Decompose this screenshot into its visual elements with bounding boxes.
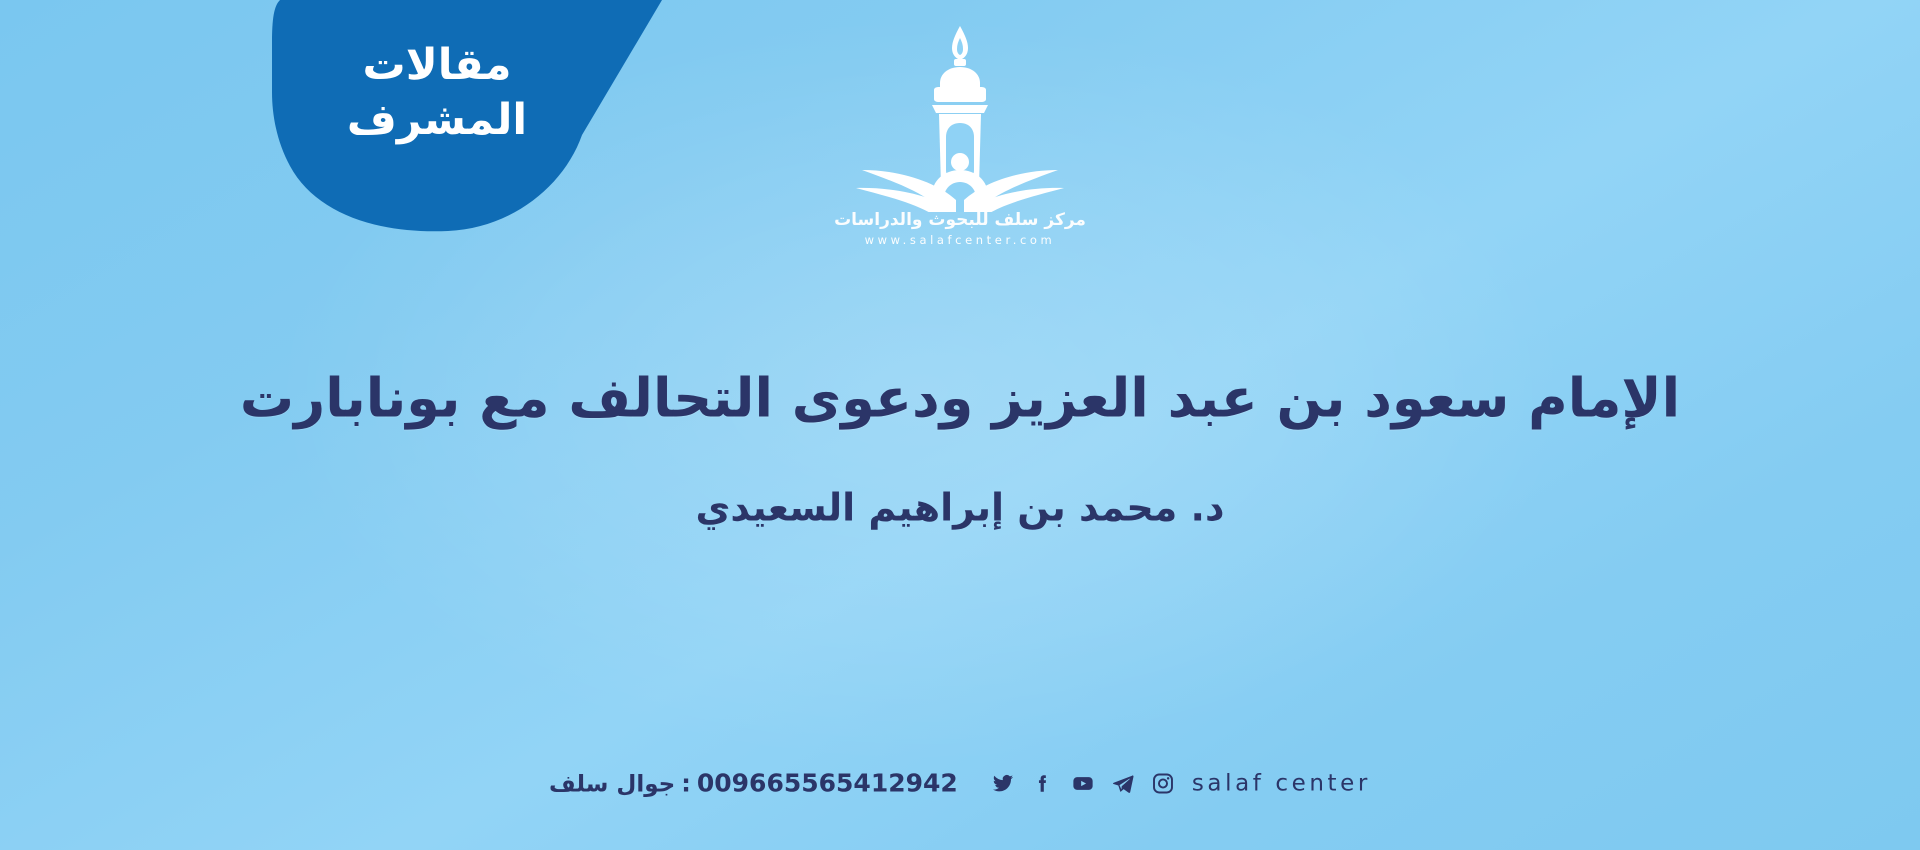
minaret-pen-book-icon — [840, 22, 1080, 212]
article-author: د. محمد بن إبراهيم السعيدي — [0, 483, 1920, 532]
phone-label: جوال سلف — [549, 772, 675, 798]
youtube-icon[interactable] — [1072, 772, 1094, 794]
brand-logo: مركز سلف للبحوث والدراسات www.salafcente… — [810, 22, 1110, 247]
article-cover-poster: مقالات المشرف — [0, 0, 1920, 850]
category-badge: مقالات المشرف — [272, 0, 672, 232]
phone-number: 009665565412942 — [697, 769, 958, 798]
logo-url: www.salafcenter.com — [810, 233, 1110, 247]
article-title: الإمام سعود بن عبد العزيز ودعوى التحالف … — [0, 364, 1920, 432]
social-handle: salaf center — [1192, 770, 1371, 796]
badge-line-1: مقالات — [363, 40, 512, 90]
social-links — [992, 772, 1174, 794]
telegram-icon[interactable] — [1112, 772, 1134, 794]
facebook-icon[interactable] — [1032, 772, 1054, 794]
phone-info: 009665565412942 : جوال سلف — [549, 769, 958, 798]
twitter-icon[interactable] — [992, 772, 1014, 794]
logo-name: مركز سلف للبحوث والدراسات — [810, 210, 1110, 230]
instagram-icon[interactable] — [1152, 772, 1174, 794]
badge-line-2: المشرف — [272, 93, 602, 148]
phone-separator: : — [675, 770, 697, 798]
badge-text: مقالات المشرف — [272, 38, 602, 148]
footer-bar: 009665565412942 : جوال سلف — [0, 769, 1920, 798]
